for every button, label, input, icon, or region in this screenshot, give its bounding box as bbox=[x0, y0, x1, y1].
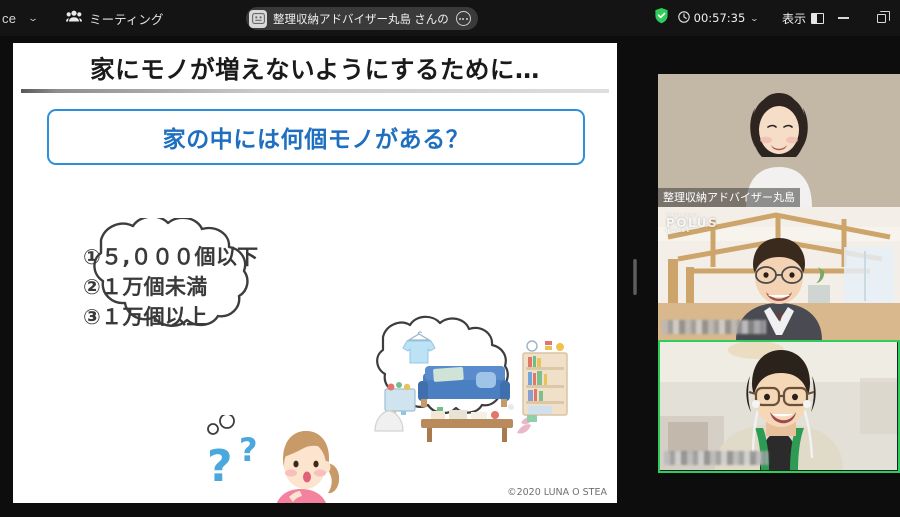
shared-content-pill[interactable]: 整理収納アドバイザー丸島 さんの bbox=[246, 7, 478, 30]
video-tile[interactable]: POLUS GROUP POLUS HOUSE bbox=[658, 207, 900, 340]
panel-divider[interactable] bbox=[628, 36, 642, 517]
chevron-down-icon[interactable]: ⌄ bbox=[17, 13, 50, 24]
more-options-icon[interactable] bbox=[456, 11, 471, 26]
timer-chevron-down-icon[interactable]: ⌄ bbox=[750, 14, 759, 23]
video-tile-active-speaker[interactable] bbox=[658, 340, 900, 473]
video-tile[interactable]: 整理収納アドバイザー丸島 bbox=[658, 74, 900, 207]
shared-screen-stage[interactable]: 家にモノが増えないようにするために… 家の中には何個モノがある？ ①５,０００個… bbox=[0, 36, 628, 517]
participant-video-panel: 整理収納アドバイザー丸島 bbox=[642, 36, 900, 517]
title-divider bbox=[21, 89, 609, 93]
title-bar-right: 00:57:35 ⌄ 表示 bbox=[654, 0, 900, 36]
choice-item: ①５,０００個以下 bbox=[83, 243, 258, 273]
slide-title: 家にモノが増えないようにするために… bbox=[13, 51, 617, 86]
meeting-window: ce ⌄ ミーティング bbox=[0, 0, 900, 517]
view-button[interactable]: 表示 bbox=[782, 10, 824, 27]
view-button-label: 表示 bbox=[782, 10, 806, 27]
choice-item: ②１万個未満 bbox=[83, 273, 258, 303]
svg-text:?: ? bbox=[239, 431, 258, 469]
meeting-tab[interactable]: ミーティング bbox=[66, 9, 163, 28]
maximize-button[interactable] bbox=[862, 0, 900, 36]
minimize-button[interactable] bbox=[824, 0, 862, 36]
copyright-text: ©2020 LUNA O STEA bbox=[507, 487, 607, 498]
polus-watermark: POLUS GROUP POLUS HOUSE bbox=[666, 213, 718, 233]
people-icon bbox=[66, 9, 82, 27]
title-bar-left: ce ⌄ ミーティング bbox=[0, 9, 163, 28]
meeting-timer[interactable]: 00:57:35 ⌄ bbox=[678, 11, 758, 26]
question-box-text: 家の中には何個モノがある？ bbox=[163, 120, 470, 154]
choice-list: ①５,０００個以下 ②１万個未満 ③１万個以上 bbox=[83, 243, 258, 332]
presentation-slide: 家にモノが増えないようにするために… 家の中には何個モノがある？ ①５,０００個… bbox=[13, 43, 617, 503]
title-bar: ce ⌄ ミーティング bbox=[0, 0, 900, 36]
layout-icon bbox=[811, 13, 824, 24]
shield-check-icon[interactable] bbox=[654, 7, 669, 29]
meeting-tab-label: ミーティング bbox=[89, 9, 163, 28]
shared-content-title: 整理収納アドバイザー丸島 さんの bbox=[273, 11, 449, 27]
participant-name-label: 整理収納アドバイザー丸島 bbox=[658, 188, 800, 207]
furniture-illustration bbox=[345, 311, 595, 463]
choice-item: ③１万個以上 bbox=[83, 303, 258, 333]
timer-value: 00:57:35 bbox=[694, 11, 746, 25]
divider-handle[interactable] bbox=[633, 259, 637, 295]
participant-name-label-blurred bbox=[664, 451, 768, 465]
clock-icon bbox=[678, 11, 690, 26]
svg-text:?: ? bbox=[207, 441, 233, 492]
thinking-person-illustration: ? ? bbox=[201, 415, 351, 503]
question-box: 家の中には何個モノがある？ bbox=[47, 109, 585, 165]
share-thumbnail-icon bbox=[249, 10, 267, 28]
participant-name-label-blurred bbox=[662, 320, 766, 334]
